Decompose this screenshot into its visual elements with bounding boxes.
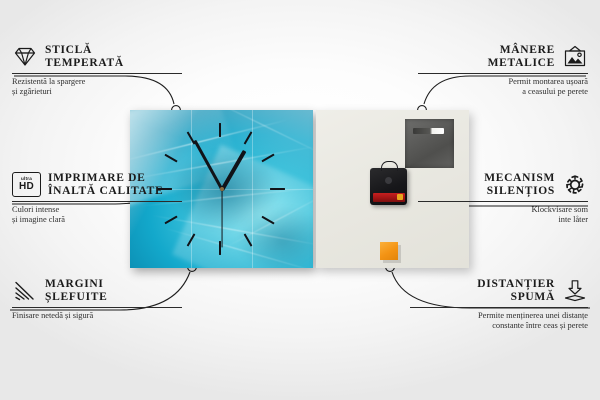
clock-center-hub <box>220 187 224 191</box>
feature-mechanism: MECANISM SILENȚIOS Klockvisare som inte … <box>418 172 588 225</box>
feature-edges-head: MARGINI ȘLEFUITE <box>12 278 182 303</box>
feature-handles-title: MÂNERE METALICE <box>488 44 555 69</box>
feature-mechanism-head: MECANISM SILENȚIOS <box>418 172 588 197</box>
hanger-slot <box>413 128 444 134</box>
feature-mechanism-title: MECANISM SILENȚIOS <box>484 172 555 197</box>
hd-badge-large-label: HD <box>19 182 34 192</box>
feature-print: ultra HD IMPRIMARE DE ÎNALTĂ CALITATE Cu… <box>12 172 182 225</box>
clock-tick <box>219 123 221 137</box>
gear-icon <box>562 173 588 197</box>
feature-print-rule <box>12 201 182 202</box>
clock-mechanism-box <box>370 168 407 205</box>
infographic-canvas: STICLĂ TEMPERATĂ Rezistentă la spargere … <box>0 0 600 400</box>
feature-spacer-subtitle: Permite menținerea unei distanțe constan… <box>410 311 588 331</box>
feature-mechanism-subtitle: Klockvisare som inte låter <box>418 205 588 225</box>
feature-edges-title: MARGINI ȘLEFUITE <box>45 278 107 303</box>
feature-spacer: DISTANȚIER SPUMĂ Permite menținerea unei… <box>410 278 588 331</box>
feature-handles-rule <box>418 73 588 74</box>
feature-spacer-rule <box>410 307 588 308</box>
feature-handles-head: MÂNERE METALICE <box>418 44 588 69</box>
feature-glass-title: STICLĂ TEMPERATĂ <box>45 44 124 69</box>
feature-edges-rule <box>12 307 182 308</box>
feature-spacer-head: DISTANȚIER SPUMĂ <box>410 278 588 303</box>
wall-mount-frame-icon <box>562 45 588 69</box>
down-arrow-layer-icon <box>562 279 588 303</box>
feature-glass-head: STICLĂ TEMPERATĂ <box>12 44 182 69</box>
feature-spacer-title: DISTANȚIER SPUMĂ <box>477 278 555 303</box>
clock-second-hand <box>221 189 222 247</box>
feature-print-head: ultra HD IMPRIMARE DE ÎNALTĂ CALITATE <box>12 172 182 197</box>
clock-tick <box>270 188 285 190</box>
feature-glass: STICLĂ TEMPERATĂ Rezistentă la spargere … <box>12 44 182 97</box>
feature-edges-subtitle: Finisare netedă și sigură <box>12 311 182 321</box>
diamond-icon <box>12 45 38 69</box>
mechanism-spindle <box>385 177 392 184</box>
polished-edges-icon <box>12 279 38 303</box>
feature-glass-subtitle: Rezistentă la spargere și zgârieturi <box>12 77 182 97</box>
mechanism-hanging-loop <box>381 161 398 171</box>
battery <box>373 193 405 202</box>
feature-handles: MÂNERE METALICE Permit montarea ușoară a… <box>418 44 588 97</box>
feature-mechanism-rule <box>418 201 588 202</box>
ultra-hd-badge-icon: ultra HD <box>12 172 41 197</box>
feature-edges: MARGINI ȘLEFUITE Finisare netedă și sigu… <box>12 278 182 321</box>
metal-hanger-plate <box>405 119 454 168</box>
battery-terminal <box>397 194 403 200</box>
feature-print-title: IMPRIMARE DE ÎNALTĂ CALITATE <box>48 172 163 197</box>
feature-glass-rule <box>12 73 182 74</box>
foam-spacer-square <box>380 242 398 260</box>
feature-handles-subtitle: Permit montarea ușoară a ceasului pe per… <box>418 77 588 97</box>
clock-tick <box>219 241 221 255</box>
feature-print-subtitle: Culori intense și imagine clară <box>12 205 182 225</box>
